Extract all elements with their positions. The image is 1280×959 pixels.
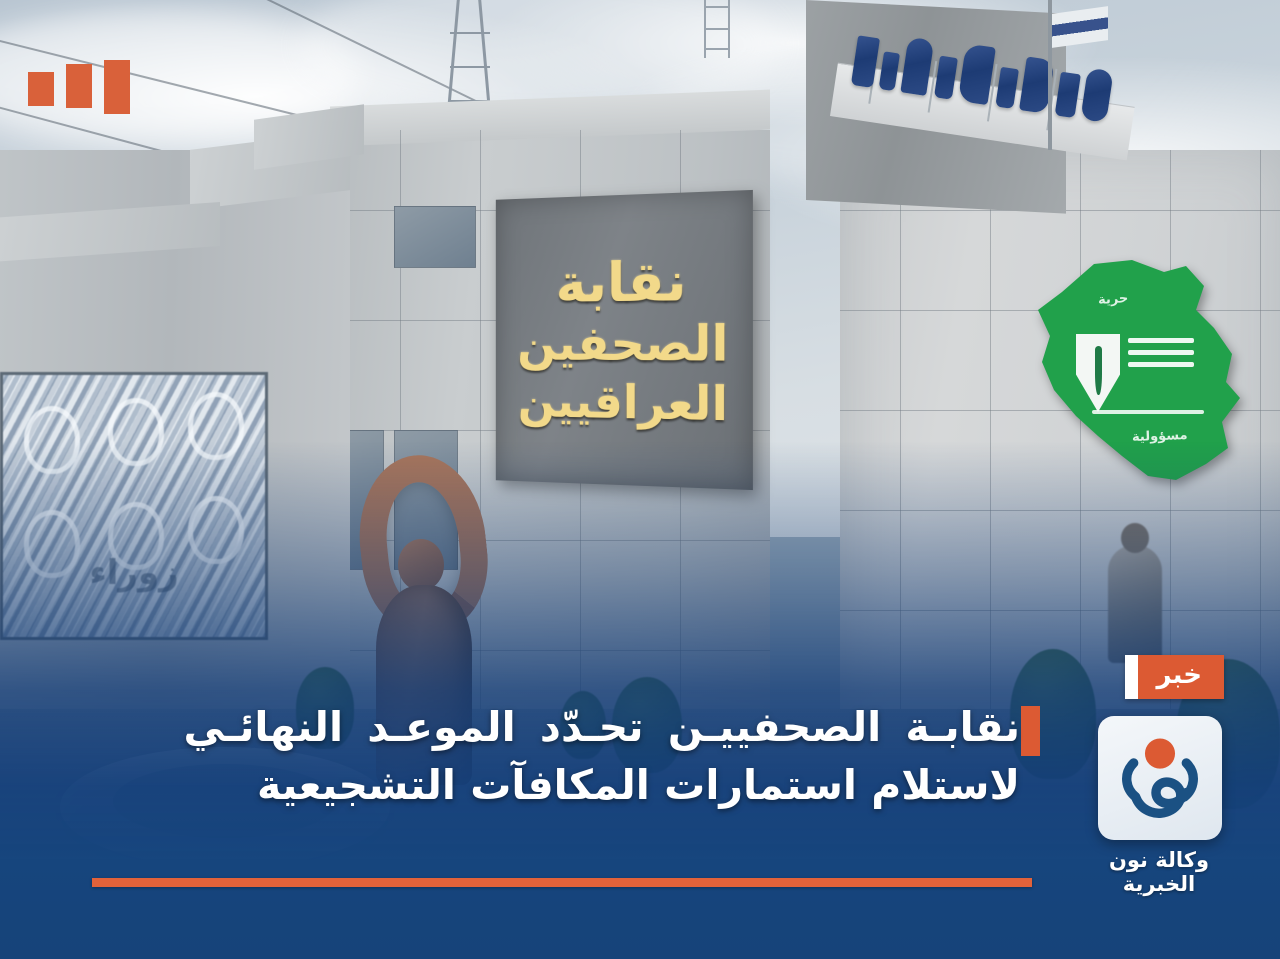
- brand-bar-1: [104, 60, 130, 114]
- badge-pip: [1125, 655, 1138, 699]
- news-category-badge: خبر: [1125, 655, 1224, 699]
- noon-monogram-icon: [1113, 731, 1207, 825]
- brand-bars-logo: [28, 60, 130, 114]
- brand-bar-2: [66, 64, 92, 108]
- brand-bar-3: [28, 72, 54, 106]
- badge-label: خبر: [1138, 655, 1224, 699]
- headline-line-1: نقابـة الصحفييـن تحـدّد الموعـد النهائـي: [70, 698, 1020, 756]
- agency-logo: [1098, 716, 1222, 840]
- headline-accent-bar: [1021, 706, 1040, 756]
- news-card: نقابة الصحفين العراقيين زوراء حر: [0, 0, 1280, 959]
- blue-gradient-overlay: [0, 0, 1280, 959]
- headline: نقابـة الصحفييـن تحـدّد الموعـد النهائـي…: [70, 698, 1020, 814]
- bottom-divider-rule: [92, 878, 1032, 887]
- agency-name: وكالة نون الخبرية: [1074, 848, 1244, 896]
- headline-line-2: لاستلام استمارات المكافآت التشجيعية: [70, 756, 1020, 814]
